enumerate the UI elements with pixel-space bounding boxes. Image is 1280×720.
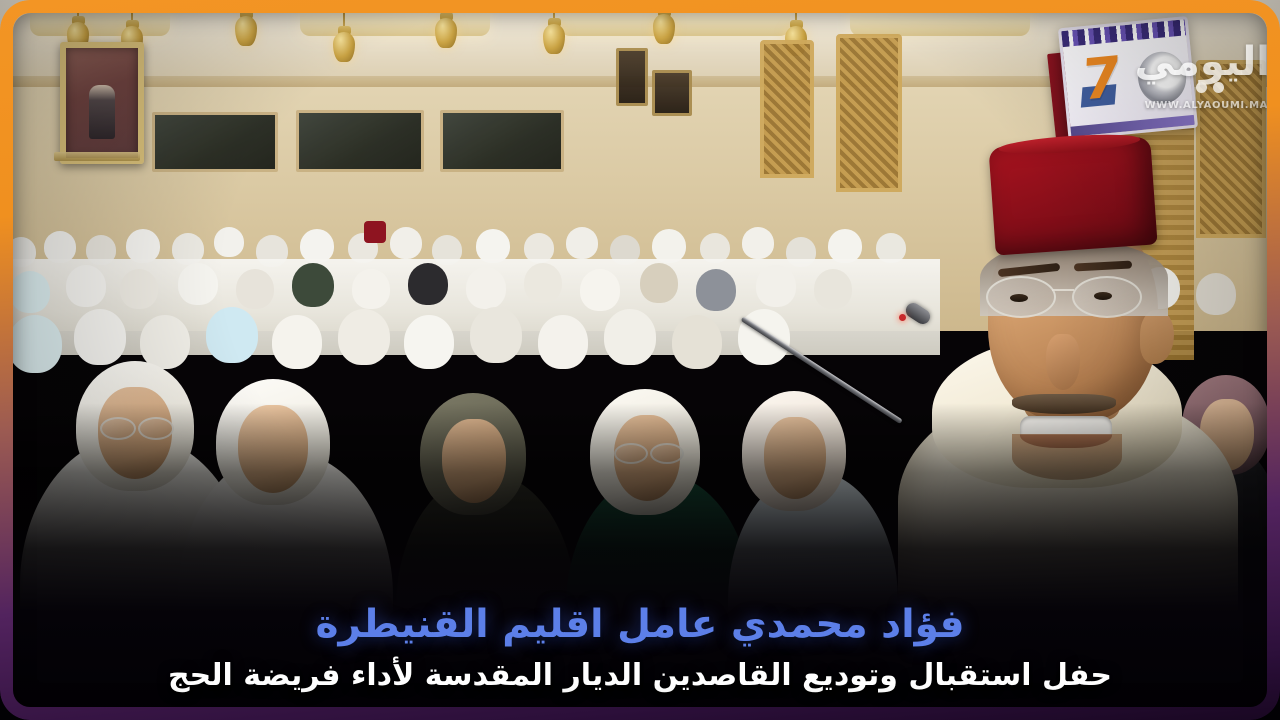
crowd-head [338, 309, 390, 365]
crowd-head [742, 227, 774, 259]
caption-block: فؤاد محمدي عامل اقليم القنيطرة حفل استقب… [0, 602, 1280, 694]
crowd-head [652, 229, 686, 263]
crowd-head [178, 263, 218, 305]
watermark-dots [1196, 82, 1224, 93]
portrait-console [54, 152, 140, 161]
crowd-head [206, 307, 258, 363]
carved-column [836, 34, 902, 192]
crowd-head-fez [364, 221, 386, 243]
crowd-head [292, 263, 334, 307]
microphone-indicator-light [899, 314, 906, 321]
chandelier [540, 2, 568, 64]
banner-logo-numeral: 7 [1081, 51, 1122, 107]
wall-panel [152, 112, 278, 172]
crowd-head [756, 265, 796, 307]
crowd-head [66, 265, 106, 307]
crowd-head [352, 269, 390, 309]
crowd-head [524, 263, 562, 303]
crowd-head [580, 269, 620, 311]
speaker-nose [1046, 334, 1080, 390]
crowd-head [476, 229, 510, 263]
wall-speaker-box [616, 48, 648, 106]
crowd-head [604, 309, 656, 365]
wall-speaker-box [652, 70, 692, 116]
crowd-head [140, 315, 190, 369]
chandelier [330, 10, 358, 72]
crowd-head [404, 315, 454, 369]
crowd-head [466, 267, 506, 309]
caption-title: فؤاد محمدي عامل اقليم القنيطرة [40, 602, 1240, 648]
chandelier [232, 0, 260, 56]
chandelier [432, 0, 460, 58]
crowd-head [566, 227, 598, 259]
video-thumbnail: 7 [0, 0, 1280, 720]
wall-panel [296, 110, 424, 172]
crowd-head [236, 269, 274, 309]
ceiling-lamp [30, 2, 170, 36]
ceiling-lamp [850, 2, 1030, 36]
crowd-head [828, 229, 862, 263]
crowd-head [640, 263, 678, 303]
wall-panel [440, 110, 564, 172]
crowd-head [672, 315, 722, 369]
watermark-brand-arabic: اليومي [1140, 42, 1270, 82]
watermark-url: WWW.ALYAOUMI.MA [1145, 100, 1268, 111]
crowd-head [8, 315, 62, 373]
crowd-head [272, 315, 322, 369]
speaker-eye [1094, 292, 1112, 300]
crowd-head [120, 269, 158, 309]
channel-watermark: اليومي WWW.ALYAOUMI.MA [1140, 42, 1270, 128]
speaker-ear [1140, 310, 1174, 364]
crowd-head [74, 309, 126, 365]
crowd-head [390, 227, 422, 259]
speaker-eye [1010, 294, 1028, 302]
crowd-head [538, 315, 588, 369]
ceiling-lamp [300, 2, 490, 36]
royal-portrait [60, 42, 144, 164]
caption-subtitle: حفل استقبال وتوديع القاصدين الديار المقد… [40, 658, 1240, 694]
crowd-head [300, 229, 334, 263]
crowd-head [214, 227, 244, 257]
carved-column [760, 40, 814, 178]
chandelier [650, 0, 678, 54]
crowd-head [470, 307, 522, 363]
crowd-head [10, 271, 50, 313]
crowd-head [126, 229, 160, 263]
red-fez-icon [988, 136, 1157, 255]
crowd-head [696, 269, 736, 311]
crowd-head [814, 269, 852, 309]
crowd-head [408, 263, 448, 305]
